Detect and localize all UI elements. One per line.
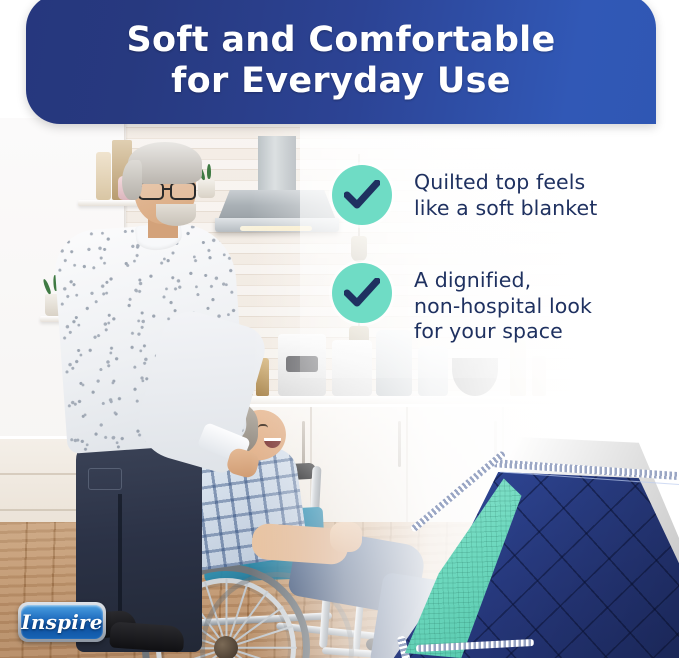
- brand-logo-text: Inspire: [21, 610, 102, 634]
- page-title: Soft and Comfortable for Everyday Use: [126, 20, 555, 102]
- man-pocket: [88, 468, 122, 490]
- benefit-2-line-2: non-hospital look: [414, 294, 592, 320]
- glasses-lens-right: [170, 182, 196, 200]
- glasses-bridge: [164, 188, 172, 190]
- check-icon: [332, 263, 392, 323]
- headline-banner: Soft and Comfortable for Everyday Use: [26, 0, 656, 124]
- title-line-1: Soft and Comfortable: [126, 20, 555, 60]
- man-beard: [156, 204, 196, 226]
- man-shoe-right: [109, 621, 185, 652]
- benefit-2-line-1: A dignified,: [414, 268, 592, 294]
- benefit-1-line-1: Quilted top feels: [414, 170, 597, 196]
- benefit-list: Quilted top feels like a soft blanket A …: [332, 165, 652, 383]
- standing-man: [52, 138, 242, 638]
- promo-image: Soft and Comfortable for Everyday Use Qu…: [0, 0, 679, 658]
- benefit-item-1: Quilted top feels like a soft blanket: [332, 165, 652, 225]
- product-quilted-pad: [392, 436, 679, 658]
- brand-logo: Inspire: [18, 602, 106, 642]
- benefit-text-1: Quilted top feels like a soft blanket: [414, 165, 597, 221]
- benefit-1-line-2: like a soft blanket: [414, 196, 597, 222]
- title-line-2: for Everyday Use: [126, 61, 555, 102]
- benefit-item-2: A dignified, non-hospital look for your …: [332, 263, 652, 345]
- man-sideburn: [122, 160, 142, 200]
- check-icon: [332, 165, 392, 225]
- benefit-2-line-3: for your space: [414, 319, 592, 345]
- brand-logo-plate: Inspire: [21, 605, 103, 639]
- benefit-text-2: A dignified, non-hospital look for your …: [414, 263, 592, 345]
